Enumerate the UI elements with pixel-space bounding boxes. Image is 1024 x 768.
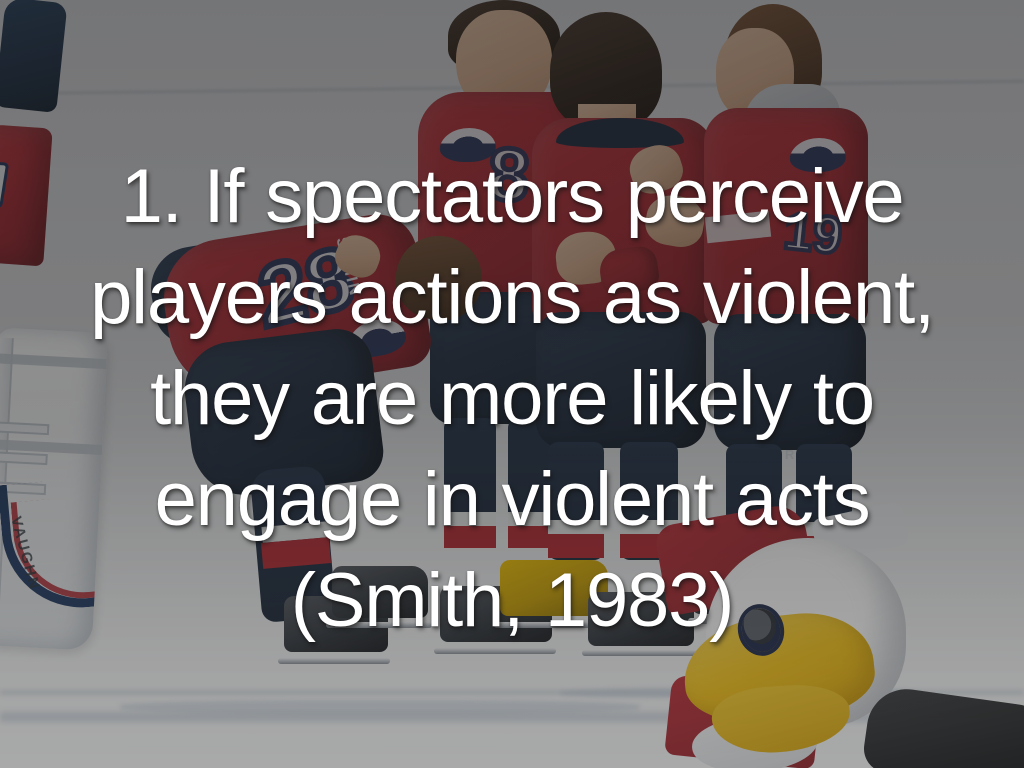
caption-line-5-citation: (Smith, 1983) [24,550,1000,651]
slide-caption: 1. If spectators perceive players action… [0,146,1024,651]
caption-line-2: players actions as violent, [24,247,1000,348]
caption-line-1: 1. If spectators perceive [24,146,1000,247]
caption-line-3: they are more likely to [24,348,1000,449]
presentation-slide: VAUGHN 8 [0,0,1024,768]
caption-line-4: engage in violent acts [24,449,1000,550]
